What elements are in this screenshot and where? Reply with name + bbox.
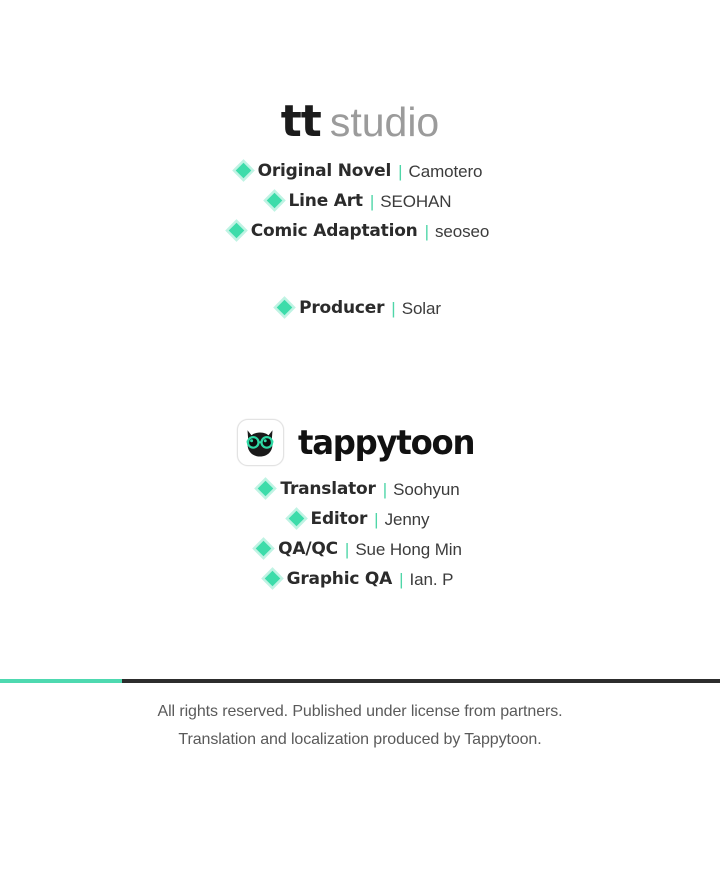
footer-line-rights: All rights reserved. Published under lic…	[0, 698, 720, 726]
credit-row: Editor|Jenny	[0, 511, 720, 528]
cat-mascot-icon	[237, 419, 284, 466]
credit-role: Comic Adaptation	[251, 221, 418, 241]
credit-separator: |	[374, 511, 378, 528]
studio-logo-word: studio	[330, 99, 439, 145]
credit-role: Translator	[280, 479, 375, 499]
credit-row: Line Art|SEOHAN	[0, 193, 720, 210]
credit-row: Original Novel|Camotero	[0, 163, 720, 180]
diamond-bullet-icon	[256, 541, 272, 557]
credits-group-producer: Producer|Solar	[0, 300, 720, 317]
divider-accent-segment	[0, 679, 122, 683]
diamond-bullet-icon	[235, 163, 251, 179]
credit-row: Comic Adaptation|seoseo	[0, 223, 720, 240]
diamond-bullet-icon	[258, 481, 274, 497]
diamond-bullet-icon	[277, 300, 293, 316]
publisher-lockup: tappytoon	[0, 419, 720, 466]
credit-role: QA/QC	[278, 539, 338, 559]
diamond-bullet-icon	[266, 193, 282, 209]
credit-name: Solar	[402, 299, 441, 318]
credit-separator: |	[345, 541, 349, 558]
credit-role: Editor	[311, 509, 368, 529]
credit-row: Graphic QA|Ian. P	[0, 571, 720, 588]
studio-logo: ttstudio	[0, 96, 720, 147]
credit-row: QA/QC|Sue Hong Min	[0, 541, 720, 558]
credit-row: Translator|Soohyun	[0, 481, 720, 498]
diamond-bullet-icon	[229, 223, 245, 239]
credit-name: Sue Hong Min	[355, 540, 462, 559]
credits-group-production: Original Novel|Camotero Line Art|SEOHAN …	[0, 163, 720, 240]
divider-dark-segment	[122, 679, 720, 683]
credit-separator: |	[383, 481, 387, 498]
credit-name: Soohyun	[393, 480, 459, 499]
footer-text: All rights reserved. Published under lic…	[0, 698, 720, 754]
credit-role: Producer	[299, 298, 384, 318]
footer-line-translation: Translation and localization produced by…	[0, 726, 720, 754]
credit-name: seoseo	[435, 222, 489, 241]
credit-role: Graphic QA	[287, 569, 393, 589]
credits-group-localization: Translator|Soohyun Editor|Jenny QA/QC|Su…	[0, 481, 720, 588]
credit-separator: |	[391, 300, 395, 317]
credit-name: SEOHAN	[380, 192, 451, 211]
publisher-wordmark: tappytoon	[298, 426, 474, 460]
credit-name: Jenny	[385, 510, 430, 529]
credit-name: Ian. P	[410, 570, 454, 589]
credit-separator: |	[425, 223, 429, 240]
studio-logo-mark: tt	[281, 96, 321, 147]
credit-separator: |	[399, 571, 403, 588]
diamond-bullet-icon	[288, 511, 304, 527]
footer-divider	[0, 679, 720, 683]
credit-separator: |	[398, 163, 402, 180]
credit-row: Producer|Solar	[0, 300, 720, 317]
credit-role: Original Novel	[258, 161, 392, 181]
credits-page: ttstudio Original Novel|Camotero Line Ar…	[0, 0, 720, 880]
diamond-bullet-icon	[264, 571, 280, 587]
credit-role: Line Art	[289, 191, 363, 211]
credit-name: Camotero	[409, 162, 483, 181]
credit-separator: |	[370, 193, 374, 210]
